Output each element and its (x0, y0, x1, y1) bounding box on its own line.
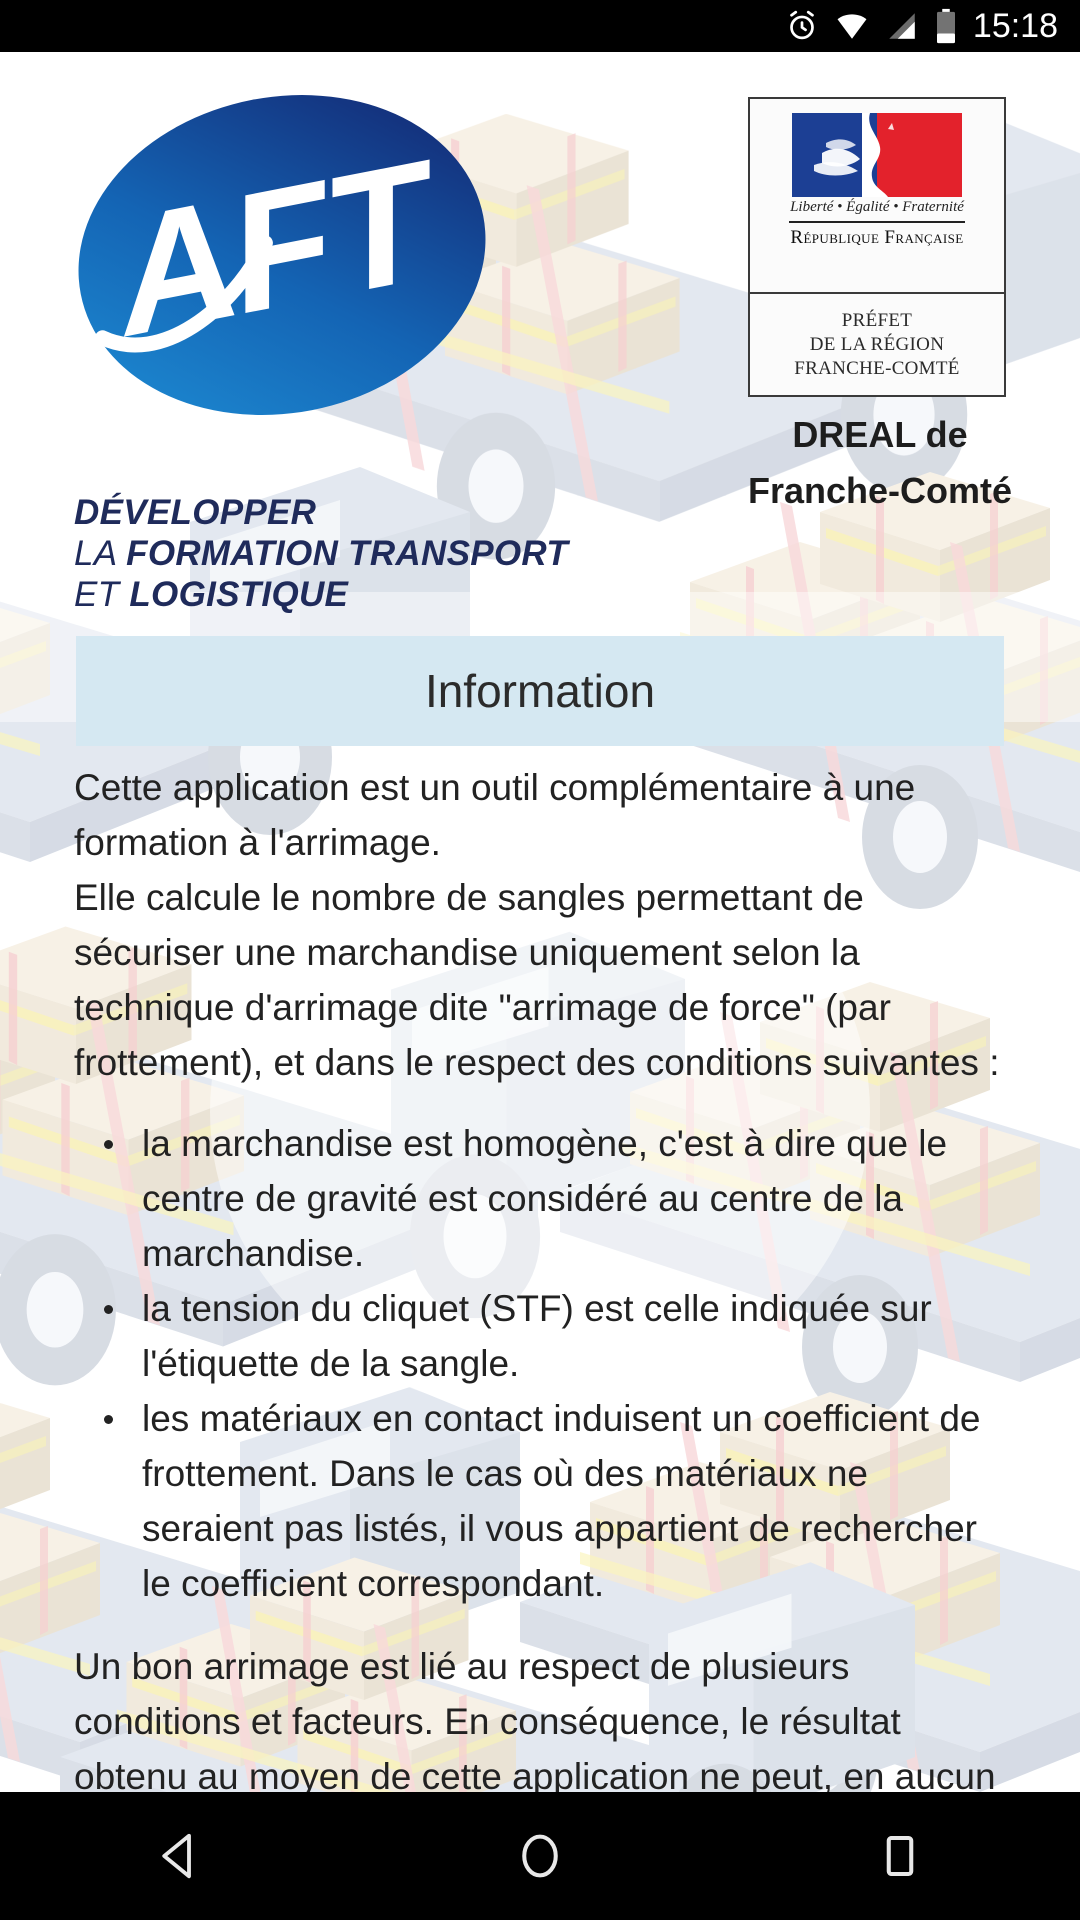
intro-paragraph: Cette application est un outil complémen… (74, 760, 1006, 870)
list-item: la marchandise est homogène, c'est à dir… (74, 1116, 1006, 1281)
status-bar-clock: 15:18 (973, 7, 1058, 46)
list-item: les matériaux en contact induisent un co… (74, 1391, 1006, 1611)
recents-button[interactable] (840, 1792, 960, 1920)
aft-tagline: DÉVELOPPER LA FORMATION TRANSPORT ET LOG… (74, 492, 568, 615)
alarm-icon (785, 9, 819, 43)
tagline-line-3-prefix: ET (74, 575, 129, 614)
dreal-label-line-1: DREAL de (700, 407, 1060, 463)
app-screen: 15:18 AFT DÉVELOPP (0, 0, 1080, 1920)
back-icon (153, 1829, 207, 1883)
prefect-line-1: PRÉFET (842, 309, 912, 333)
tagline-line-2-bold: FORMATION TRANSPORT (126, 534, 568, 573)
back-button[interactable] (120, 1792, 240, 1920)
tagline-line-2-prefix: LA (74, 534, 126, 573)
marianne-flag-icon (792, 113, 962, 197)
devise-text: Liberté • Égalité • Fraternité (790, 199, 964, 216)
description-paragraph: Elle calcule le nombre de sangles permet… (74, 870, 1006, 1090)
republique-francaise-block: Liberté • Égalité • Fraternité Républiqu… (750, 99, 1004, 294)
wifi-icon (835, 9, 869, 43)
prefect-line-2: DE LA RÉGION (810, 333, 944, 357)
tagline-line-1: DÉVELOPPER (74, 492, 568, 533)
status-bar: 15:18 (0, 0, 1080, 52)
dreal-label: DREAL de Franche-Comté (700, 407, 1060, 519)
dreal-label-line-2: Franche-Comté (700, 463, 1060, 519)
republique-francaise-text: République Française (790, 227, 963, 249)
tagline-line-3: ET LOGISTIQUE (74, 574, 568, 615)
aft-logo: AFT (72, 90, 492, 420)
home-icon (513, 1829, 567, 1883)
tagline-line-3-bold: LOGISTIQUE (129, 575, 348, 614)
republique-francaise-logo-box: Liberté • Égalité • Fraternité Républiqu… (748, 97, 1006, 397)
information-title-bar: Information (76, 636, 1004, 746)
app-header: AFT DÉVELOPPER LA FORMATION TRANSPORT ET… (0, 52, 1080, 582)
battery-icon (935, 8, 957, 44)
information-content: Cette application est un outil complémen… (0, 760, 1080, 1914)
conditions-list: la marchandise est homogène, c'est à dir… (74, 1116, 1006, 1611)
home-button[interactable] (480, 1792, 600, 1920)
prefect-region-block: PRÉFET DE LA RÉGION FRANCHE-COMTÉ (750, 294, 1004, 395)
recents-icon (873, 1829, 927, 1883)
tagline-line-2: LA FORMATION TRANSPORT (74, 533, 568, 574)
android-navigation-bar (0, 1792, 1080, 1920)
page-title: Information (425, 664, 655, 718)
cellular-signal-icon (885, 9, 919, 43)
prefect-line-3: FRANCHE-COMTÉ (794, 357, 959, 381)
list-item: la tension du cliquet (STF) est celle in… (74, 1281, 1006, 1391)
devise-rule (789, 221, 965, 223)
